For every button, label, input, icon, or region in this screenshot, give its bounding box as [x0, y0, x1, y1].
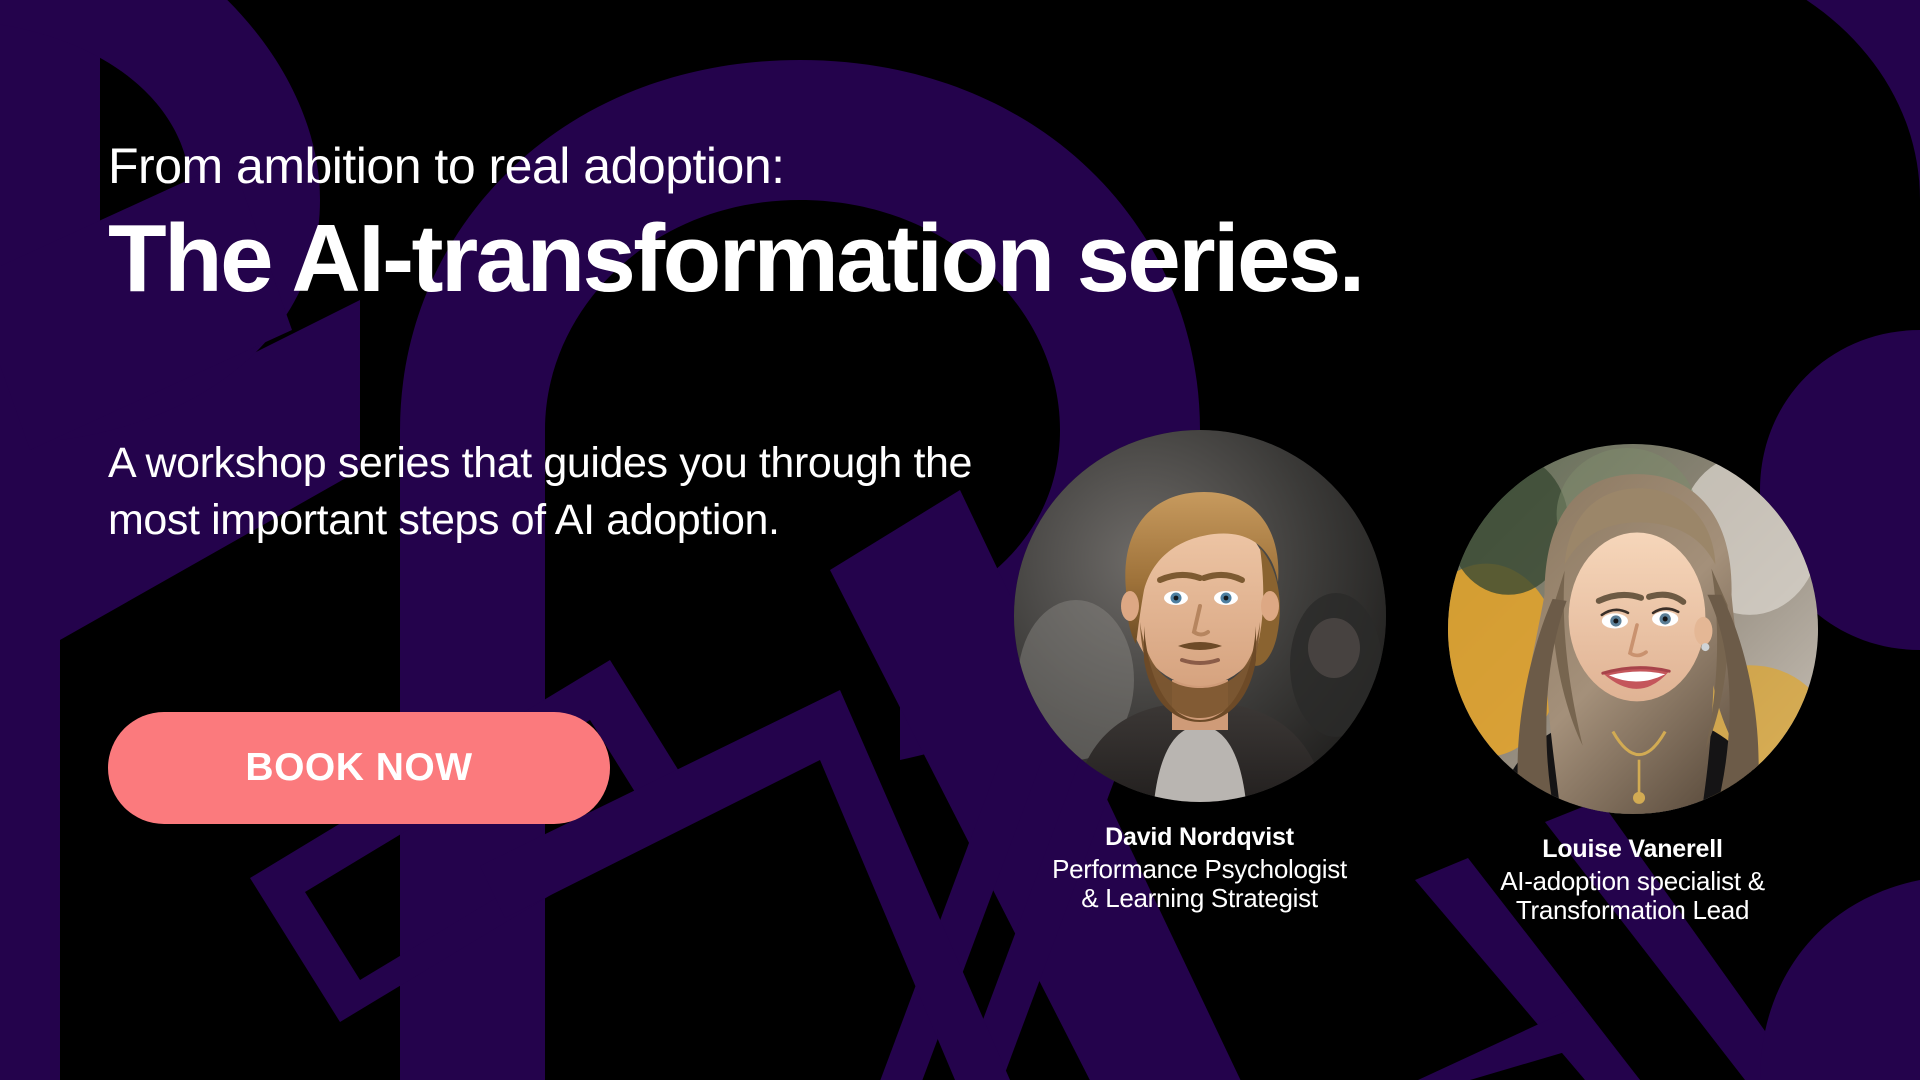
speaker-name: David Nordqvist [1105, 822, 1294, 852]
speaker-role: AI-adoption specialist & Transformation … [1500, 867, 1765, 925]
hero-subcopy: A workshop series that guides you throug… [108, 435, 1058, 549]
speaker-card: Louise Vanerell AI-adoption specialist &… [1445, 444, 1820, 925]
bg-outline-peak-bottom-right [1418, 1005, 1640, 1080]
speaker-card: David Nordqvist Performance Psychologist… [1012, 430, 1387, 925]
page-title: The AI-transformation series. [108, 210, 1363, 308]
speaker-name: Louise Vanerell [1542, 834, 1722, 864]
portrait-male-icon [1014, 430, 1386, 802]
hero-content: From ambition to real adoption: The AI-t… [108, 0, 1068, 1080]
avatar [1448, 444, 1818, 814]
avatar [1014, 430, 1386, 802]
hero-eyebrow: From ambition to real adoption: [108, 140, 785, 193]
bg-blob-top-right [1590, 0, 1920, 200]
book-now-button[interactable]: BOOK NOW [108, 712, 610, 824]
speaker-role: Performance Psychologist & Learning Stra… [1052, 855, 1347, 913]
portrait-female-icon [1448, 444, 1818, 814]
promo-banner: From ambition to real adoption: The AI-t… [0, 0, 1920, 1080]
speaker-list: David Nordqvist Performance Psychologist… [1012, 430, 1852, 925]
